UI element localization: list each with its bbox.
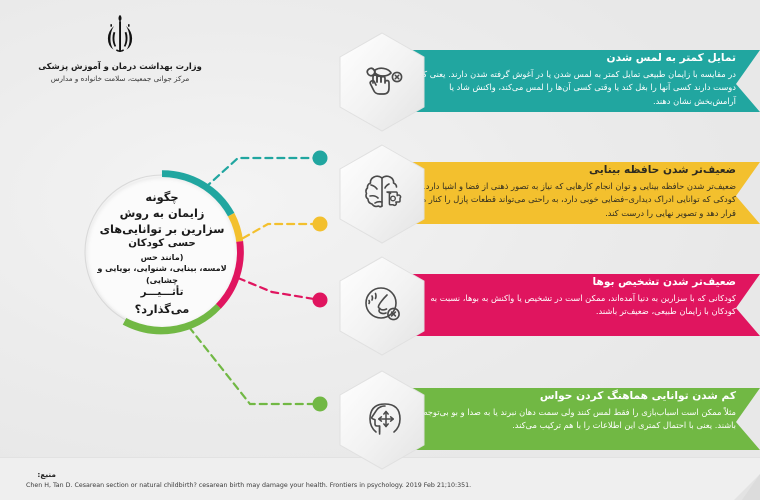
question-line-3: سزارین بر توانایی‌های (100, 221, 225, 237)
hand-touch-disabled-icon (358, 56, 408, 106)
panel-title-1: تمایل کمتر به لمس شدن (408, 52, 736, 66)
question-line-4-main: حسی کودکان (128, 238, 196, 249)
central-question-circle: چگونه زایمان به روش سزارین بر توانایی‌ها… (78, 168, 246, 336)
panel-body-2: ضعیف‌تر شدن حافظه بینایی و توان انجام کا… (408, 180, 736, 220)
iran-emblem-icon (94, 12, 146, 56)
page-corner-fold (734, 474, 760, 500)
question-line-4-paren: (مانند حس (128, 252, 196, 263)
banner-text-4: کم شدن توانایی هماهنگ کردن حواس مثلاً مم… (408, 390, 736, 433)
panel-sensory-coordination[interactable]: کم شدن توانایی هماهنگ کردن حواس مثلاً مم… (330, 366, 760, 474)
panel-title-3: ضعیف‌تر شدن تشخیص بوها (408, 276, 736, 290)
banner-2: ضعیف‌تر شدن حافظه بینایی ضعیف‌تر شدن حاف… (392, 156, 760, 230)
banner-1: تمایل کمتر به لمس شدن در مقایسه با زایما… (392, 44, 760, 118)
panel-body-1: در مقایسه با زایمان طبیعی تمایل کمتر به … (408, 68, 736, 108)
question-line-5: لامسه، بینایی، شنوایی، بویایی و (97, 263, 226, 274)
hexagon-badge-4 (334, 368, 430, 472)
question-line-4: حسی کودکان(مانند حس (128, 237, 196, 263)
banner-text-2: ضعیف‌تر شدن حافظه بینایی ضعیف‌تر شدن حاف… (408, 164, 736, 220)
source-citation: Chen H, Tan D. Cesarean section or natur… (26, 482, 471, 490)
ministry-name-secondary: مرکز جوانی جمعیت، سلامت خانواده و مدارس (14, 74, 226, 83)
panel-body-4: مثلاً ممکن است اسباب‌بازی را فقط لمس کنن… (408, 406, 736, 433)
banner-text-3: ضعیف‌تر شدن تشخیص بوها کودکانی که با سزا… (408, 276, 736, 319)
question-line-6-main: تأثـــیـــر (141, 287, 184, 298)
panel-smell[interactable]: ضعیف‌تر شدن تشخیص بوها کودکانی که با سزا… (330, 252, 760, 360)
hexagon-badge-3 (334, 254, 430, 358)
infographic-canvas: وزارت بهداشت درمان و آموزش پزشکی مرکز جو… (0, 0, 760, 500)
hexagon-badge-1 (334, 30, 430, 134)
panel-title-2: ضعیف‌تر شدن حافظه بینایی (408, 164, 736, 178)
panel-visual-memory[interactable]: ضعیف‌تر شدن حافظه بینایی ضعیف‌تر شدن حاف… (330, 140, 760, 248)
question-line-6-paren: چشایی) (141, 275, 184, 286)
hexagon-badge-2 (334, 142, 430, 246)
question-line-1: چگونه (145, 189, 178, 205)
source-block: منبع: Chen H, Tan D. Cesarean section or… (26, 470, 471, 490)
question-line-6: چشایی) تأثـــیـــر (141, 275, 184, 301)
brain-puzzle-icon (358, 168, 408, 218)
nose-smell-disabled-icon (358, 280, 408, 330)
ministry-name-primary: وزارت بهداشت درمان و آموزش پزشکی (14, 61, 226, 72)
banner-text-1: تمایل کمتر به لمس شدن در مقایسه با زایما… (408, 52, 736, 108)
source-label: منبع: (26, 470, 56, 479)
question-line-2: زایمان به روش (120, 205, 205, 221)
ministry-logo-block: وزارت بهداشت درمان و آموزش پزشکی مرکز جو… (14, 12, 226, 83)
panel-title-4: کم شدن توانایی هماهنگ کردن حواس (408, 390, 736, 404)
panel-body-3: کودکانی که با سزارین به دنیا آمده‌اند، م… (408, 292, 736, 319)
banner-4: کم شدن توانایی هماهنگ کردن حواس مثلاً مم… (392, 382, 760, 456)
question-line-7: می‌گذارد؟ (135, 301, 190, 317)
head-multidirection-icon (358, 394, 408, 444)
banner-3: ضعیف‌تر شدن تشخیص بوها کودکانی که با سزا… (392, 268, 760, 342)
central-question-text: چگونه زایمان به روش سزارین بر توانایی‌ها… (90, 182, 234, 324)
panel-touch[interactable]: تمایل کمتر به لمس شدن در مقایسه با زایما… (330, 28, 760, 136)
